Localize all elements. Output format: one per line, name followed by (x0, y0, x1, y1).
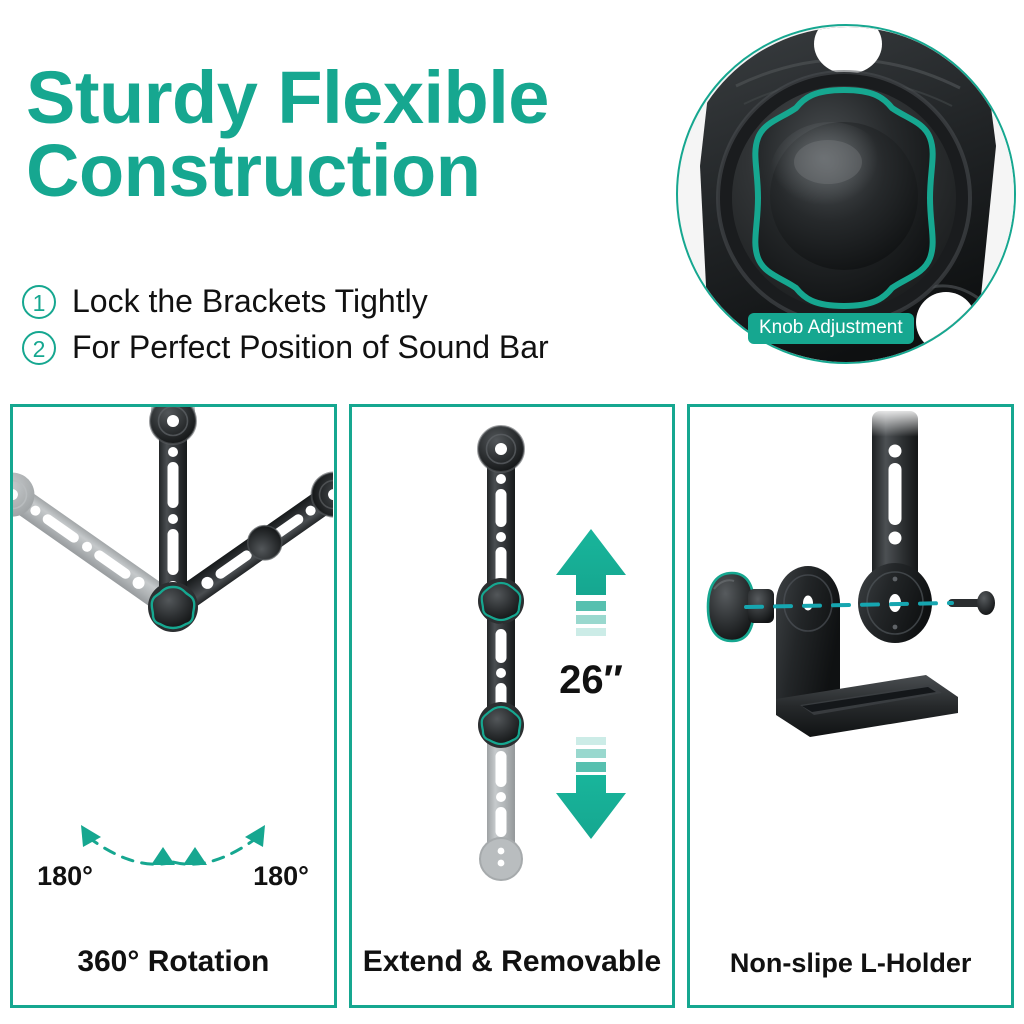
rotation-diagram: 180° 180° (13, 407, 333, 927)
panel-rotation: 180° 180° 360° Rotation (10, 404, 337, 1008)
bullet-label: Lock the Brackets Tightly (72, 283, 428, 320)
panel-extend: 26′′ Extend & Removable (349, 404, 676, 1008)
adjustment-knob-icon (708, 573, 774, 641)
angle-arc-right (173, 837, 258, 864)
screw-icon (948, 591, 995, 615)
extension-upper-segment (478, 426, 524, 603)
knob-closeup-inset: Knob Adjustment (676, 24, 1016, 364)
angle-label-left: 180° (37, 861, 93, 891)
pivot-knob-icon (148, 582, 198, 632)
extend-knob-upper-icon (478, 578, 524, 624)
panel-caption-extend: Extend & Removable (352, 945, 673, 979)
arrowhead-right-inner (183, 847, 207, 865)
arm-upper (150, 407, 196, 609)
bullet-number-icon: 2 (22, 331, 56, 365)
feature-panel-row: 180° 180° 360° Rotation (10, 404, 1014, 1008)
panel-caption-rotation: 360° Rotation (13, 945, 334, 979)
knob-adjustment-badge: Knob Adjustment (748, 313, 914, 344)
bullet-label: For Perfect Position of Sound Bar (72, 329, 549, 366)
extend-arrow-down-icon (556, 737, 626, 839)
headline-line-2: Construction (26, 135, 686, 208)
bullet-number-icon: 1 (22, 285, 56, 319)
extend-arrow-up-icon (556, 529, 626, 636)
extend-diagram: 26′′ (352, 407, 672, 927)
panel-l-holder: Non-slipe L-Holder (687, 404, 1014, 1008)
list-item: 1 Lock the Brackets Tightly (22, 282, 712, 321)
page-title: Sturdy Flexible Construction (26, 62, 686, 207)
extend-knob-lower-icon (478, 702, 524, 748)
arrowhead-left-inner (151, 847, 175, 865)
extension-length-label: 26′′ (559, 658, 623, 702)
panel-caption-l-holder: Non-slipe L-Holder (690, 948, 1011, 979)
feature-bullet-list: 1 Lock the Brackets Tightly 2 For Perfec… (22, 282, 712, 374)
list-item: 2 For Perfect Position of Sound Bar (22, 328, 712, 367)
headline-line-1: Sturdy Flexible (26, 56, 549, 139)
angle-label-right: 180° (253, 861, 309, 891)
l-holder-exploded-diagram (690, 407, 1010, 927)
